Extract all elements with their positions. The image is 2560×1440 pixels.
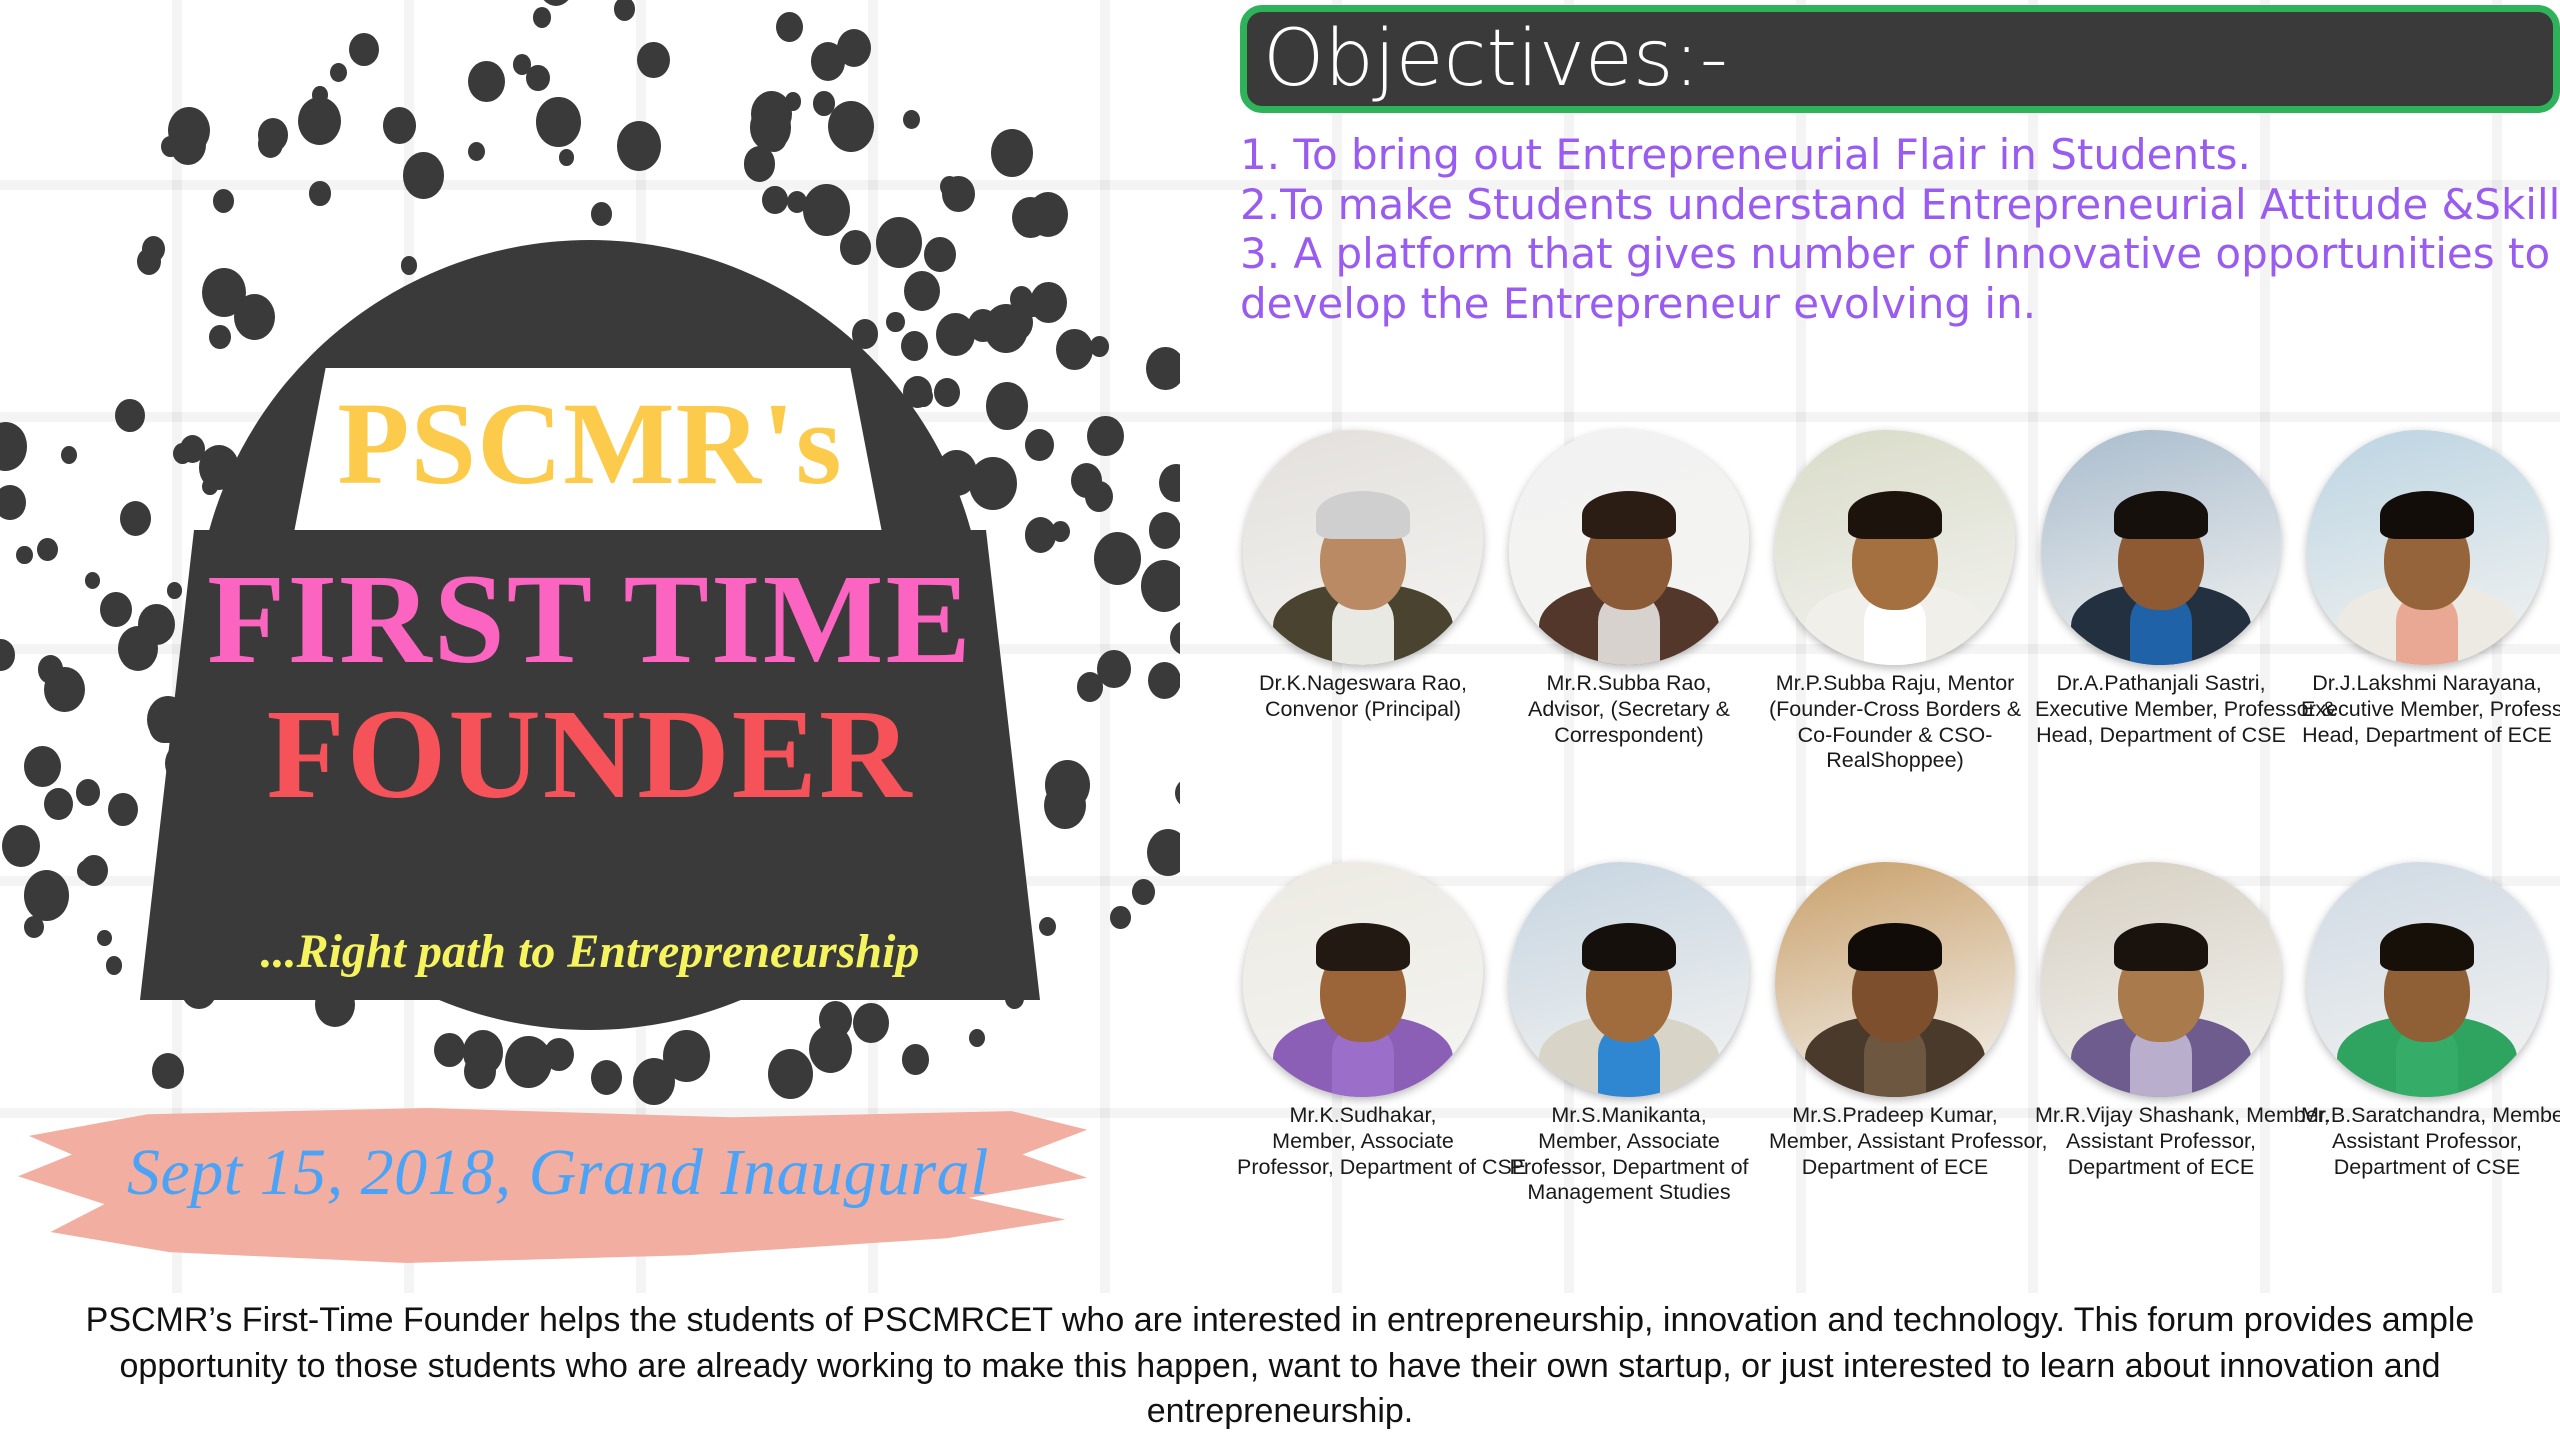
logo-stack: PSCMR's FIRST TIME FOUNDER ...Right path… [0,0,1180,1030]
member-caption: Mr.K.Sudhakar,Member, AssociateProfessor… [1237,1103,1489,1180]
objective-item-1: 1. To bring out Entrepreneurial Flair in… [1240,130,2560,180]
logo-line-founder: FOUNDER [0,690,1180,818]
member-caption-line: Management Studies [1503,1180,1755,1206]
member-caption-line: Correspondent) [1503,723,1755,749]
member-photo [1243,430,1483,665]
objective-item-3: 3. A platform that gives number of Innov… [1240,229,2560,328]
member-caption: Mr.B.Saratchandra, Member,Assistant Prof… [2301,1103,2553,1180]
member-card: Mr.S.Pradeep Kumar,Member, Assistant Pro… [1762,862,2028,1180]
member-caption-line: Dr.J.Lakshmi Narayana, [2301,671,2553,697]
decorative-dot [591,1060,622,1095]
member-photo-hair [1582,923,1676,971]
objectives-list: 1. To bring out Entrepreneurial Flair in… [1240,130,2560,328]
logo-line-first-time: FIRST TIME [0,555,1180,683]
member-caption-line: Department of ECE [2035,1155,2287,1181]
member-card: Mr.B.Saratchandra, Member,Assistant Prof… [2294,862,2560,1180]
member-photo-hair [2114,923,2208,971]
member-card: Mr.R.Subba Rao,Advisor, (Secretary &Corr… [1496,430,1762,748]
logo-tagline: ...Right path to Entrepreneurship [0,928,1180,976]
member-caption-line: Head, Department of ECE [2301,723,2553,749]
member-caption-line: Professor, Department of [1503,1155,1755,1181]
poster: PSCMR's FIRST TIME FOUNDER ...Right path… [0,0,2560,1440]
member-card: Dr.K.Nageswara Rao,Convenor (Principal) [1230,430,1496,723]
member-caption-line: Dr.K.Nageswara Rao, [1237,671,1489,697]
decorative-dot [768,1049,813,1099]
member-photo-hair [2114,491,2208,539]
member-photo-hair [2380,491,2474,539]
member-caption-line: (Founder-Cross Borders & [1769,697,2021,723]
decorative-dot [809,1025,852,1073]
member-caption-line: Head, Department of CSE [2035,723,2287,749]
member-photo [2041,862,2281,1097]
member-caption: Mr.R.Vijay Shashank, Member,Assistant Pr… [2035,1103,2287,1180]
member-photo [1509,862,1749,1097]
decorative-dot [902,1044,929,1075]
member-caption-line: Mr.P.Subba Raju, Mentor [1769,671,2021,697]
member-photo-hair [1848,923,1942,971]
member-caption-line: Mr.R.Subba Rao, [1503,671,1755,697]
member-caption: Mr.S.Manikanta,Member, AssociateProfesso… [1503,1103,1755,1206]
objectives-header-label: Objectives:- [1263,20,1728,98]
member-caption-line: Assistant Professor, [2035,1129,2287,1155]
decorative-dot [969,1029,985,1047]
date-banner-text: Sept 15, 2018, Grand Inaugural [18,1140,1098,1206]
member-caption-line: Advisor, (Secretary & [1503,697,1755,723]
member-caption-line: Member, Assistant Professor, [1769,1129,2021,1155]
members-row-second: Mr.K.Sudhakar,Member, AssociateProfessor… [1230,862,2560,1206]
decorative-dot [152,1053,184,1089]
member-caption: Dr.K.Nageswara Rao,Convenor (Principal) [1237,671,1489,723]
member-caption-line: RealShoppee) [1769,748,2021,774]
member-caption: Dr.A.Pathanjali Sastri,Executive Member,… [2035,671,2287,748]
objectives-header: Objectives:- [1240,5,2560,113]
member-caption-line: Executive Member, Professor & [2301,697,2553,723]
member-caption: Mr.P.Subba Raju, Mentor(Founder-Cross Bo… [1769,671,2021,774]
member-caption-line: Member, Associate [1503,1129,1755,1155]
member-photo-hair [1316,491,1410,539]
logo-line-pscmr: PSCMR's [0,385,1180,503]
member-caption-line: Mr.S.Pradeep Kumar, [1769,1103,2021,1129]
member-card: Mr.P.Subba Raju, Mentor(Founder-Cross Bo… [1762,430,2028,774]
left-emblem-panel: PSCMR's FIRST TIME FOUNDER ...Right path… [0,0,1180,1290]
member-photo [2307,862,2547,1097]
member-caption-line: Executive Member, Professor & [2035,697,2287,723]
member-caption-line: Mr.R.Vijay Shashank, Member, [2035,1103,2287,1129]
member-caption-line: Professor, Department of CSE [1237,1155,1489,1181]
member-caption: Mr.S.Pradeep Kumar,Member, Assistant Pro… [1769,1103,2021,1180]
footer-description: PSCMR’s First-Time Founder helps the stu… [0,1293,2560,1440]
member-card: Mr.S.Manikanta,Member, AssociateProfesso… [1496,862,1762,1206]
member-card: Mr.R.Vijay Shashank, Member,Assistant Pr… [2028,862,2294,1180]
objective-item-2: 2.To make Students understand Entreprene… [1240,180,2560,230]
member-photo [1775,430,2015,665]
member-photo [1775,862,2015,1097]
member-photo [2041,430,2281,665]
member-caption-line: Mr.S.Manikanta, [1503,1103,1755,1129]
member-caption-line: Assistant Professor, [2301,1129,2553,1155]
member-card: Dr.A.Pathanjali Sastri,Executive Member,… [2028,430,2294,748]
member-photo [1509,430,1749,665]
member-caption-line: Convenor (Principal) [1237,697,1489,723]
member-photo [2307,430,2547,665]
decorative-dot [434,1033,464,1067]
member-photo [1243,862,1483,1097]
right-content-panel: Objectives:- 1. To bring out Entrepreneu… [1230,0,2560,1290]
member-caption-line: Department of ECE [1769,1155,2021,1181]
member-caption-line: Member, Associate [1237,1129,1489,1155]
footer-description-text: PSCMR’s First-Time Founder helps the stu… [30,1298,2530,1435]
member-caption-line: Dr.A.Pathanjali Sastri, [2035,671,2287,697]
member-caption-line: Co-Founder & CSO- [1769,723,2021,749]
members-row-first: Dr.K.Nageswara Rao,Convenor (Principal)M… [1230,430,2560,774]
member-photo-hair [2380,923,2474,971]
member-caption: Mr.R.Subba Rao,Advisor, (Secretary &Corr… [1503,671,1755,748]
member-card: Mr.K.Sudhakar,Member, AssociateProfessor… [1230,862,1496,1180]
member-caption-line: Mr.B.Saratchandra, Member, [2301,1103,2553,1129]
member-photo-hair [1582,491,1676,539]
decorative-dot [544,1038,574,1071]
decorative-dot [464,1054,495,1089]
member-caption: Dr.J.Lakshmi Narayana,Executive Member, … [2301,671,2553,748]
member-card: Dr.J.Lakshmi Narayana,Executive Member, … [2294,430,2560,748]
decorative-dot [633,1058,675,1105]
member-photo-hair [1848,491,1942,539]
member-caption-line: Department of CSE [2301,1155,2553,1181]
member-photo-hair [1316,923,1410,971]
member-caption-line: Mr.K.Sudhakar, [1237,1103,1489,1129]
